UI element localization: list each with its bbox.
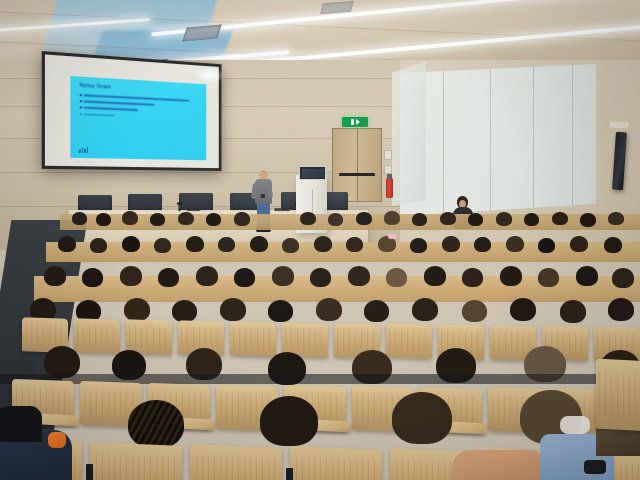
projector-glare — [194, 65, 225, 84]
foreground-person-head — [0, 406, 42, 442]
seat-back[interactable] — [90, 442, 182, 480]
slide-bullet — [80, 113, 199, 120]
seat-back[interactable] — [190, 444, 282, 480]
person-hair-braided — [128, 400, 184, 448]
door-split-line — [357, 129, 358, 201]
seat-back[interactable] — [596, 359, 640, 432]
person-hair — [260, 396, 318, 446]
wall-curtain — [400, 64, 596, 216]
slide-logo — [79, 147, 89, 153]
seat-frame — [86, 464, 93, 480]
audience-seating — [0, 210, 640, 480]
hair-bow — [388, 234, 397, 239]
presenter-clicker — [261, 194, 265, 198]
wall-socket — [384, 165, 392, 174]
dark-strap — [584, 460, 606, 474]
foreground-person-legs — [452, 450, 542, 480]
projection-screen-surface: Notas finais — [45, 54, 219, 168]
white-garment — [560, 416, 590, 434]
speaker-mount — [610, 122, 629, 128]
backpack-strap — [48, 432, 66, 448]
seat-back[interactable] — [290, 446, 382, 480]
door-push-bar — [339, 173, 375, 176]
lectern-monitor[interactable] — [299, 166, 326, 180]
exit-door[interactable] — [332, 128, 382, 202]
slide-title: Notas finais — [80, 83, 111, 91]
person-hair — [392, 392, 452, 444]
presentation-slide: Notas finais — [70, 76, 206, 160]
lecture-hall-photo: Notas finais — [0, 0, 640, 480]
fire-extinguisher-icon — [386, 178, 393, 198]
exit-sign-icon — [342, 117, 368, 127]
wall-socket — [384, 150, 392, 160]
slide-bullet-list — [80, 94, 199, 124]
projection-screen: Notas finais — [42, 51, 222, 171]
wall-curtain-left-panel — [392, 58, 426, 206]
seat-frame — [286, 468, 293, 480]
slide-bullet — [80, 107, 199, 114]
